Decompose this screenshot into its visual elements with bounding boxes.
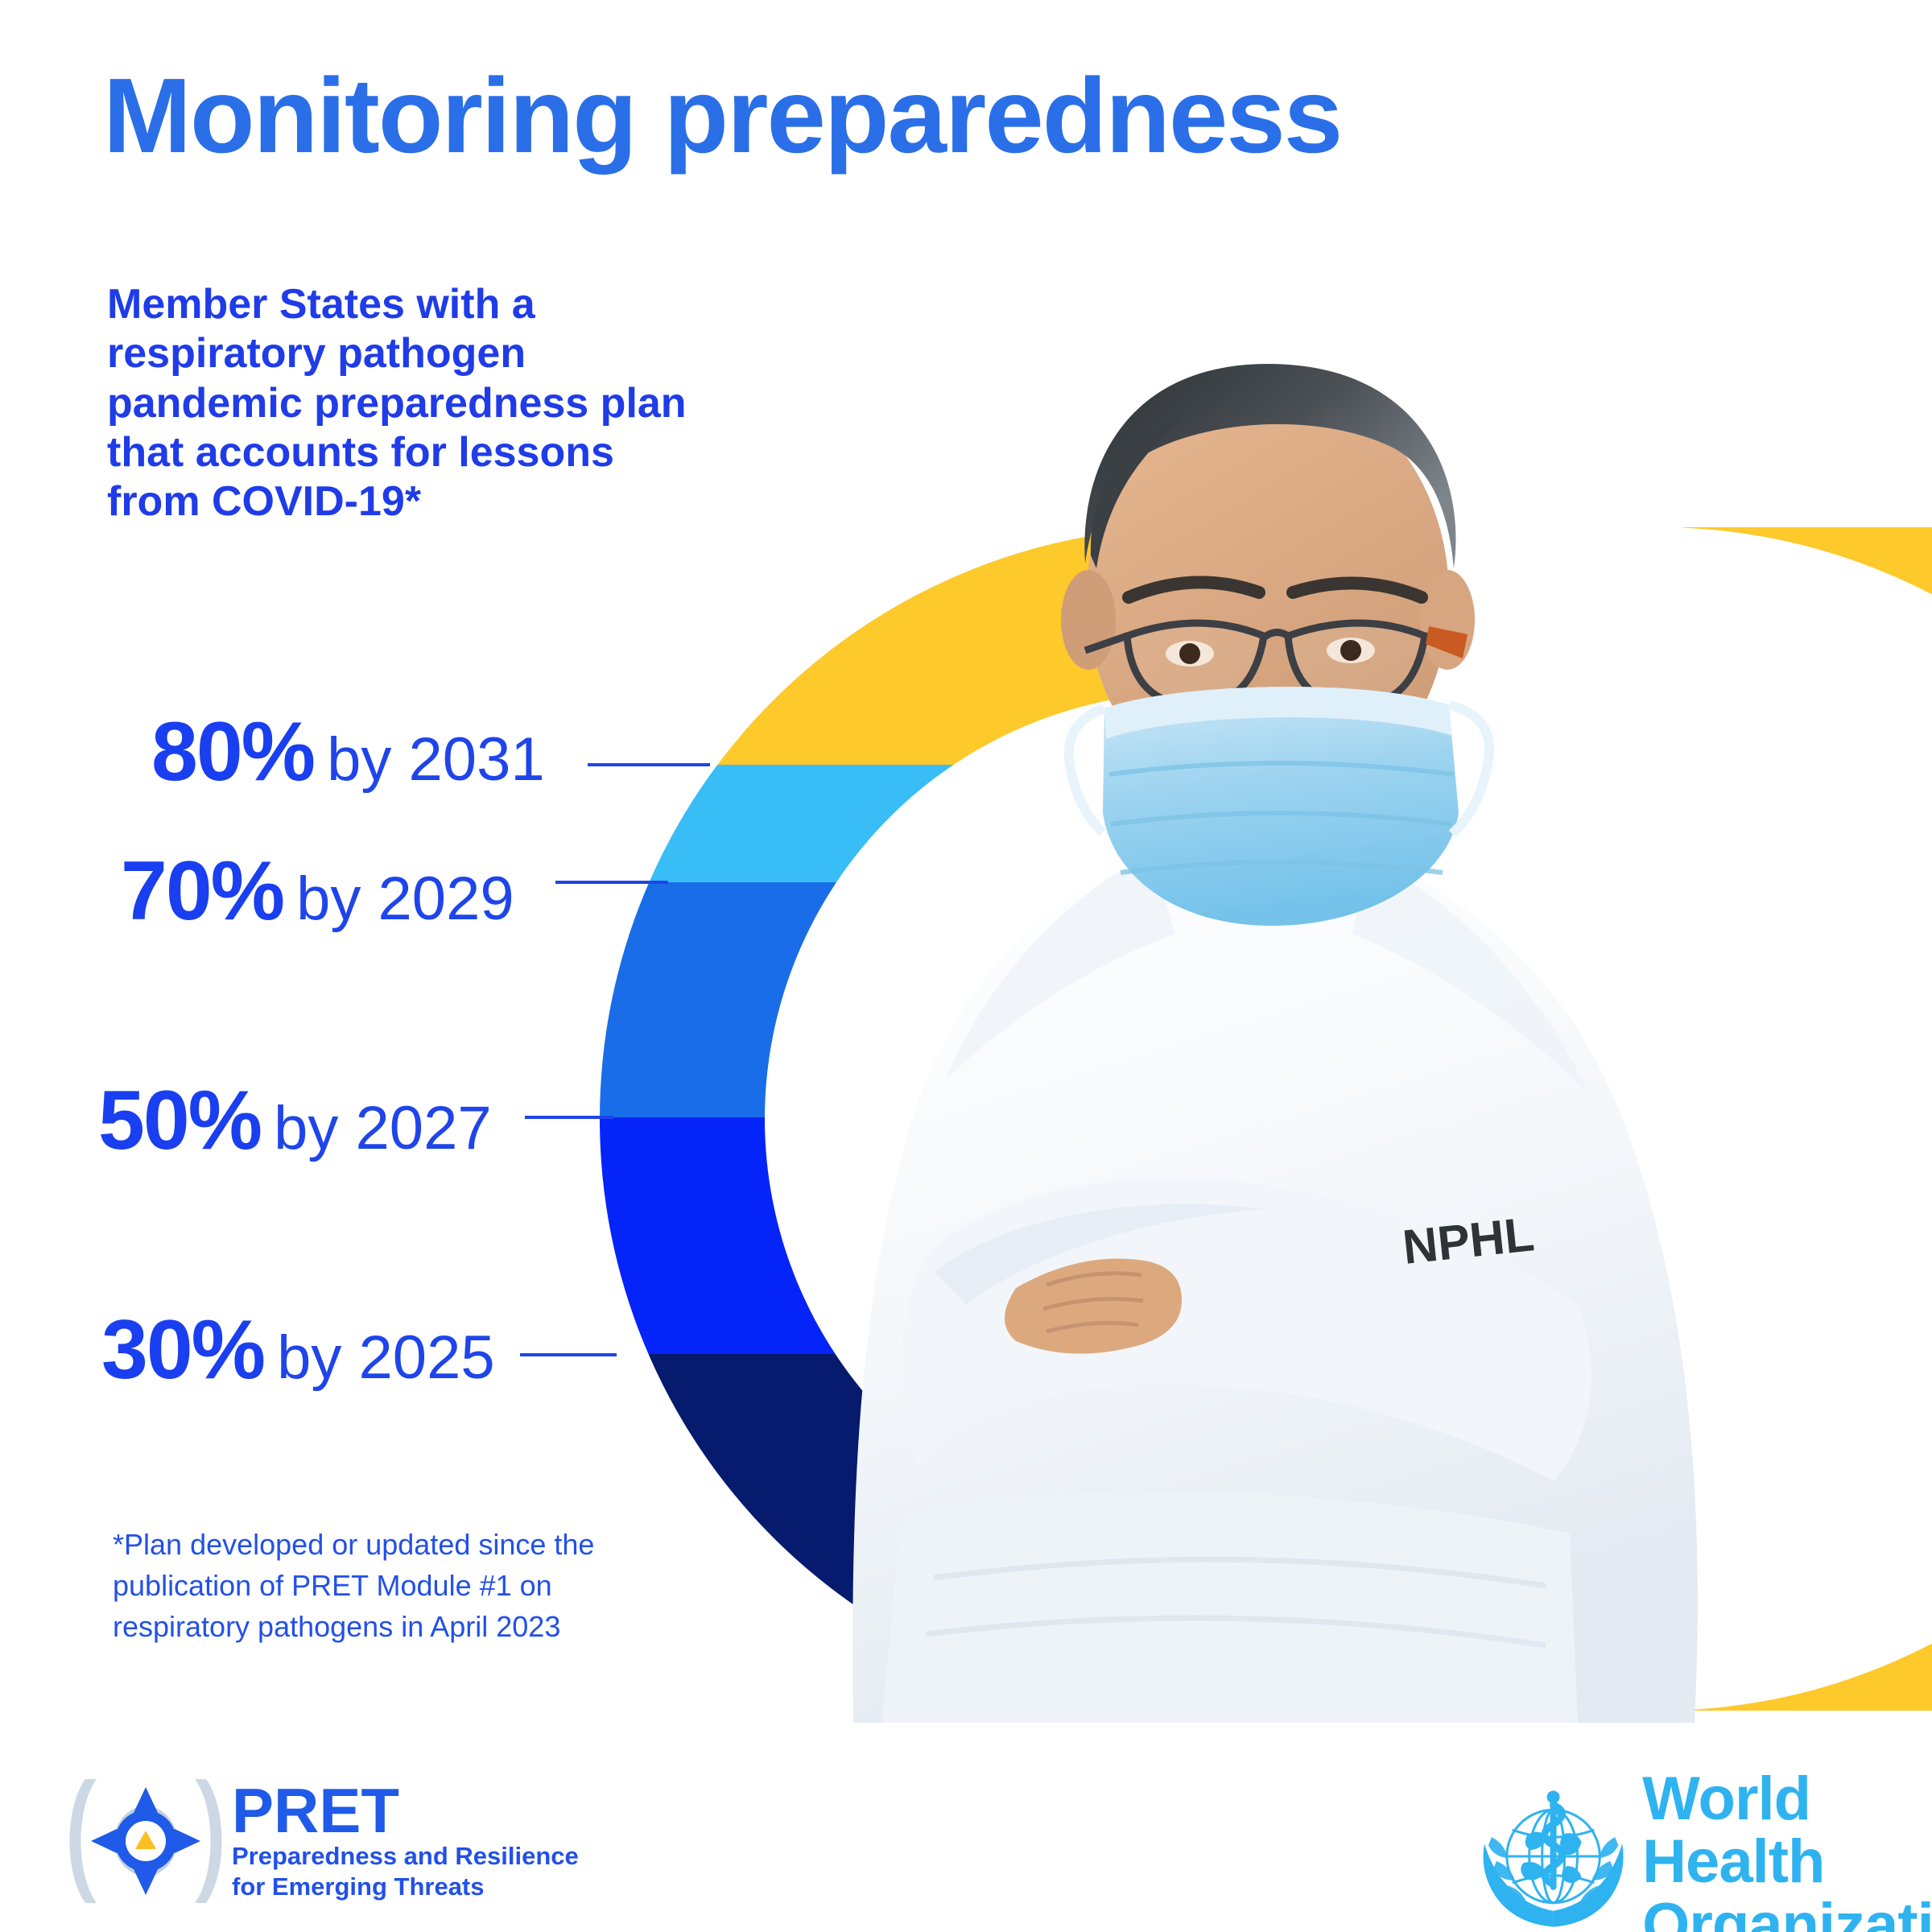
- who-line-2: Organization: [1642, 1894, 1932, 1932]
- who-text-block: World Health Organization: [1642, 1768, 1932, 1932]
- leader-line-50: [525, 1116, 613, 1119]
- pret-mark-icon: [69, 1773, 222, 1909]
- pret-tagline-1: Preparedness and Resilience: [232, 1841, 579, 1872]
- leader-line-70: [555, 881, 668, 884]
- stat-30: 30% by 2025: [101, 1308, 495, 1392]
- pret-text-block: PRET Preparedness and Resilience for Eme…: [232, 1780, 579, 1902]
- stat-30-year: by 2025: [277, 1327, 494, 1389]
- who-line-1: World Health: [1642, 1768, 1932, 1894]
- stat-50-year: by 2027: [274, 1098, 491, 1159]
- footnote: *Plan developed or updated since the pub…: [113, 1524, 596, 1647]
- leader-line-30: [520, 1353, 617, 1356]
- stat-70-value: 70%: [121, 849, 283, 933]
- leader-line-80: [588, 763, 710, 766]
- pret-logo: PRET Preparedness and Resilience for Eme…: [69, 1773, 579, 1909]
- stat-50: 50% by 2027: [98, 1079, 492, 1162]
- stat-80: 80% by 2031: [151, 710, 545, 794]
- stat-50-value: 50%: [98, 1079, 261, 1162]
- pret-tagline-2: for Emerging Threats: [232, 1872, 579, 1902]
- stat-70-year: by 2029: [296, 869, 514, 930]
- stat-30-value: 30%: [101, 1308, 264, 1392]
- stat-70: 70% by 2029: [121, 849, 514, 933]
- stat-80-year: by 2031: [327, 729, 544, 791]
- stat-80-value: 80%: [151, 710, 314, 794]
- pret-wordmark: PRET: [232, 1780, 579, 1841]
- who-logo: World Health Organization: [1477, 1768, 1932, 1932]
- infographic-canvas: Monitoring preparedness Member States wi…: [0, 0, 1932, 1932]
- who-emblem-icon: [1477, 1785, 1629, 1932]
